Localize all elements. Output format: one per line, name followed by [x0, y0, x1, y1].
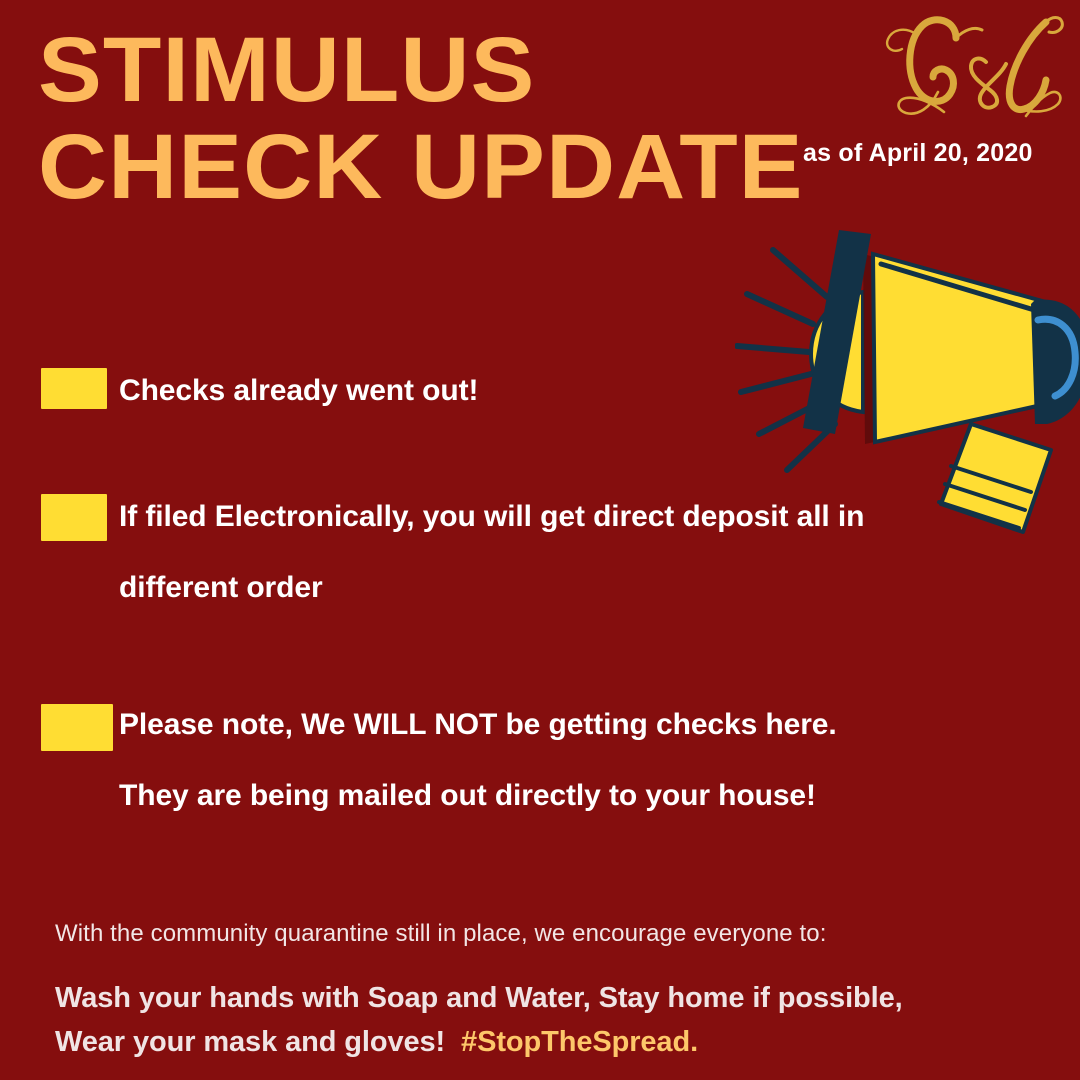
- footer-intro-text: With the community quarantine still in p…: [55, 918, 1045, 950]
- bullet-text-line: They are being mailed out directly to yo…: [41, 760, 1031, 831]
- poster-canvas: STIMULUS CHECK UPDATE as of April 20, 20…: [0, 0, 1080, 1080]
- title-line-2: CHECK UPDATE: [38, 119, 912, 216]
- footer-advice-line-1: Wash your hands with Soap and Water, Sta…: [55, 976, 1045, 1020]
- footer-block: With the community quarantine still in p…: [55, 918, 1045, 1064]
- footer-advice-line-2-text: Wear your mask and gloves!: [55, 1026, 445, 1058]
- footer-advice-line-2: Wear your mask and gloves! #StopTheSprea…: [55, 1020, 1045, 1064]
- date-label: as of April 20, 2020: [803, 139, 1033, 168]
- bullet-marker-square: [41, 494, 107, 541]
- bullet-text-line: Checks already went out!: [41, 355, 1031, 426]
- bullet-list: Checks already went out! If filed Electr…: [41, 355, 1031, 829]
- title-line-1: STIMULUS: [38, 22, 912, 119]
- list-item: Please note, We WILL NOT be getting chec…: [41, 689, 1031, 829]
- bullet-text-line: Please note, We WILL NOT be getting chec…: [41, 689, 1031, 760]
- page-title: STIMULUS CHECK UPDATE: [38, 22, 878, 216]
- megaphone-highlight: [1038, 319, 1075, 396]
- megaphone-body: [1031, 299, 1080, 424]
- hashtag-stop-the-spread: #StopTheSpread.: [461, 1026, 698, 1058]
- bullet-marker-square: [41, 368, 107, 409]
- bullet-text-line: If filed Electronically, you will get di…: [41, 481, 1031, 552]
- list-item: Checks already went out!: [41, 355, 1031, 481]
- bullet-text-line: different order: [41, 552, 1031, 623]
- bullet-marker-square: [41, 704, 113, 751]
- list-item: If filed Electronically, you will get di…: [41, 481, 1031, 689]
- footer-advice-text: Wash your hands with Soap and Water, Sta…: [55, 976, 1045, 1064]
